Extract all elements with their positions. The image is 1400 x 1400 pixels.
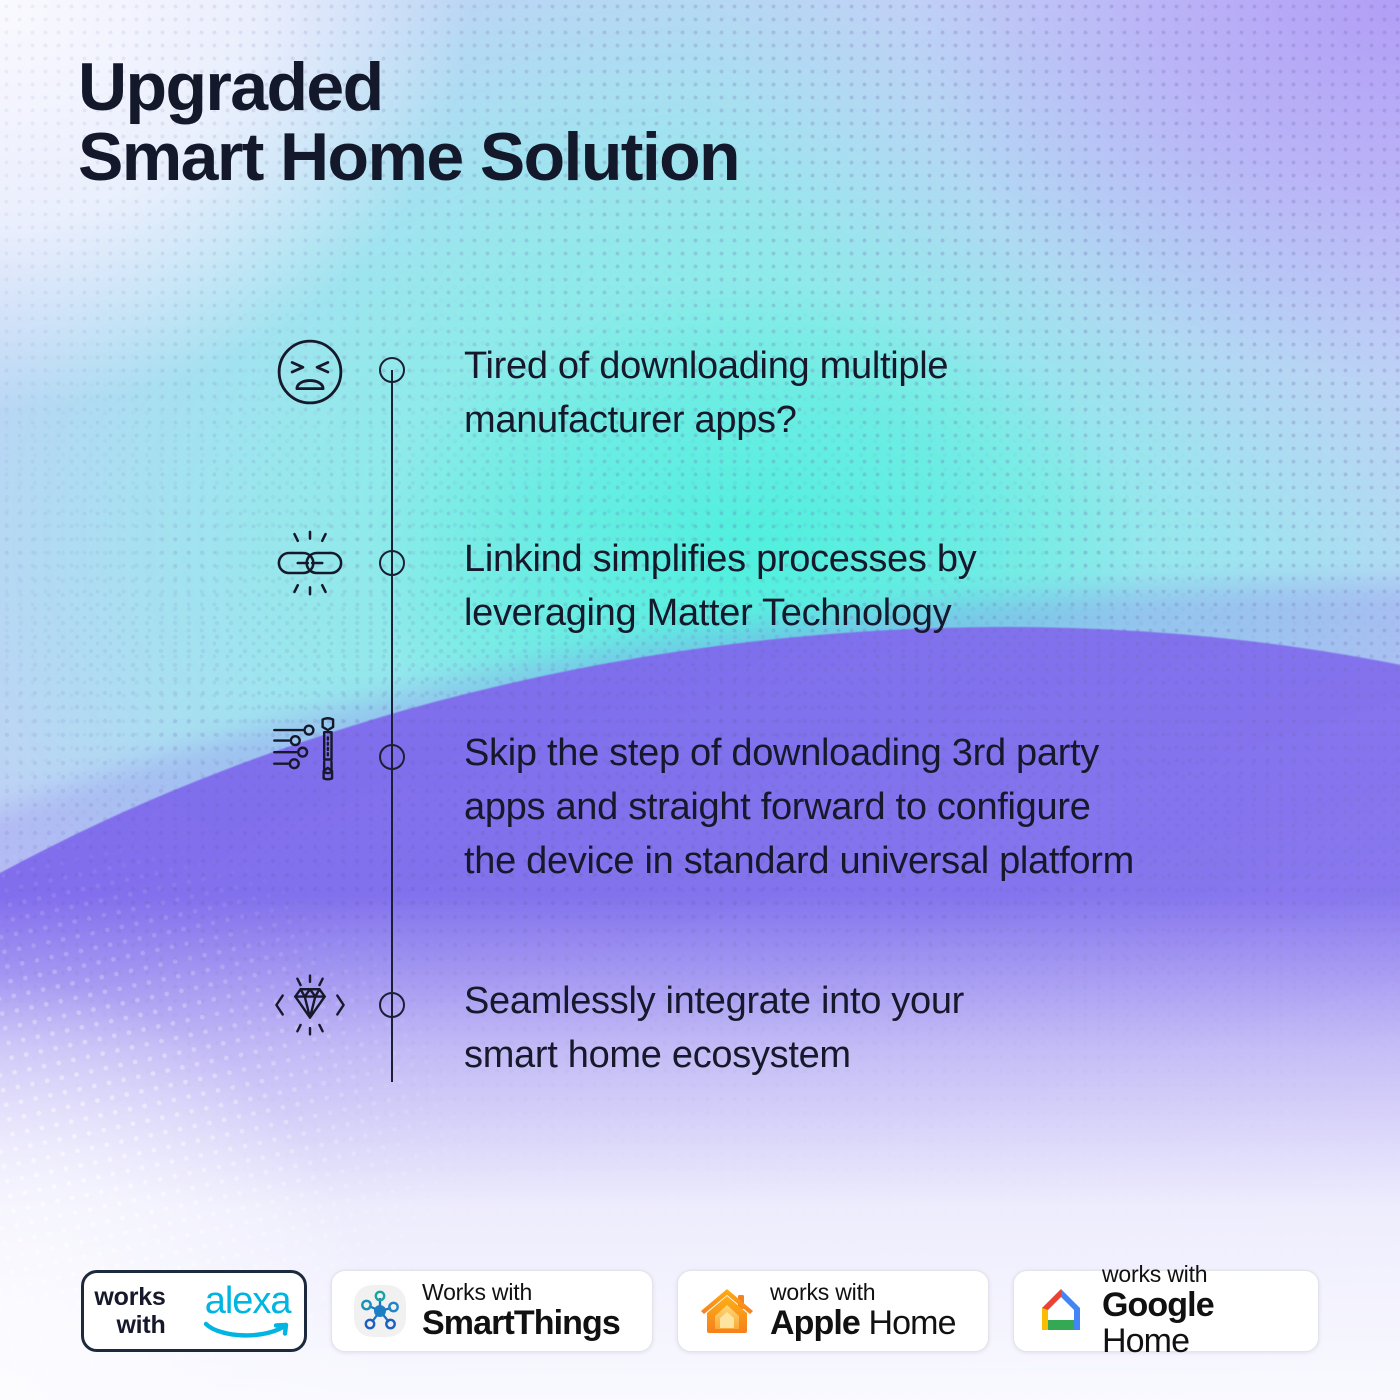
google-home-wordmark: Google Home <box>1102 1287 1298 1360</box>
timeline-node <box>379 550 405 576</box>
timeline-node <box>379 357 405 383</box>
broken-chain-link-icon <box>268 521 352 605</box>
promo-graphic: Upgraded Smart Home Solution Tired of do… <box>0 0 1400 1400</box>
google-home-brand-bold: Google <box>1102 1286 1214 1324</box>
feature-text: Skip the step of downloading 3rd party a… <box>464 727 1344 889</box>
timeline-node <box>379 744 405 770</box>
alexa-wordmark: alexa <box>205 1283 291 1319</box>
smartthings-wordmark: SmartThings <box>422 1305 620 1342</box>
apple-home-house-icon <box>698 1283 756 1339</box>
settings-wrench-icon <box>268 707 352 791</box>
apple-home-brand-light: Home <box>860 1304 956 1342</box>
apple-home-label: works with Apple Home <box>770 1280 956 1342</box>
google-home-works-with: works with <box>1102 1262 1298 1287</box>
smartthings-works-with: Works with <box>422 1280 620 1305</box>
alexa-works-line1: works <box>94 1283 165 1311</box>
smartthings-label: Works with SmartThings <box>422 1280 620 1342</box>
alexa-works-line2: with <box>94 1311 165 1339</box>
feature-text: Seamlessly integrate into your smart hom… <box>464 975 1344 1083</box>
badge-works-with-google-home[interactable]: works with Google Home <box>1013 1270 1319 1352</box>
badge-works-with-smartthings[interactable]: Works with SmartThings <box>331 1270 653 1352</box>
annoyed-face-icon <box>268 330 352 414</box>
smartthings-nodes-icon <box>352 1283 408 1339</box>
alexa-logo-icon: alexa <box>202 1283 294 1339</box>
google-home-label: works with Google Home <box>1102 1262 1298 1360</box>
compatibility-badges: works with alexa <box>0 1270 1400 1352</box>
timeline-node <box>379 992 405 1018</box>
badge-works-with-apple-home[interactable]: works with Apple Home <box>677 1270 989 1352</box>
google-home-brand-light: Home <box>1102 1322 1189 1360</box>
google-home-house-icon <box>1034 1284 1088 1338</box>
apple-home-works-with: works with <box>770 1280 956 1305</box>
feature-text: Tired of downloading multiple manufactur… <box>464 340 1344 448</box>
shining-diamond-icon <box>268 963 352 1047</box>
badge-works-with-alexa[interactable]: works with alexa <box>81 1270 307 1352</box>
apple-home-wordmark: Apple Home <box>770 1305 956 1342</box>
page-title: Upgraded Smart Home Solution <box>78 52 739 192</box>
feature-text: Linkind simplifies processes by leveragi… <box>464 533 1344 641</box>
apple-home-brand-bold: Apple <box>770 1304 860 1342</box>
alexa-smile-icon <box>202 1319 294 1339</box>
timeline-connector-line <box>391 370 393 1082</box>
alexa-works-with-label: works with <box>94 1283 165 1339</box>
